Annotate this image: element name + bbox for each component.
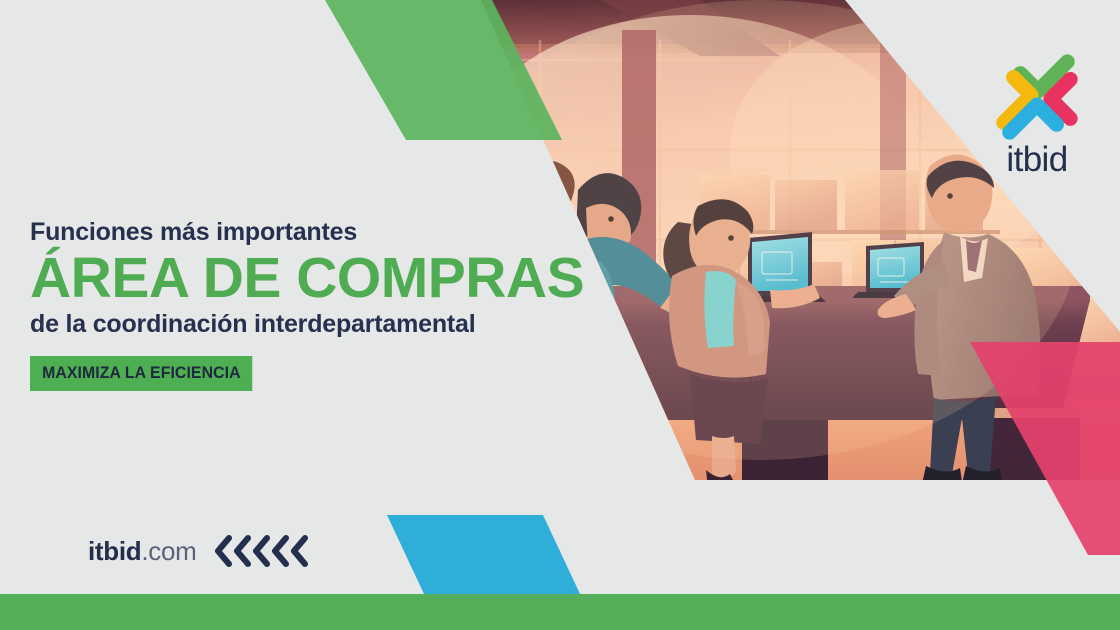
subtitle-text: de la coordinación interdepartamental: [30, 311, 590, 339]
url-tld: .com: [141, 536, 196, 567]
status-badge: MAXIMIZA LA EFICIENCIA: [30, 356, 253, 391]
headline-block: Funciones más importantes ÁREA DE COMPRA…: [30, 219, 590, 391]
footer-url[interactable]: itbid .com: [88, 534, 310, 568]
eyebrow-text: Funciones más importantes: [30, 219, 590, 247]
page-title: ÁREA DE COMPRAS: [30, 249, 590, 307]
chevron-left-icon: [288, 534, 310, 568]
logo-wordmark: itbid: [978, 142, 1096, 177]
brand-logo[interactable]: itbid: [978, 48, 1096, 177]
url-brand: itbid: [88, 536, 141, 567]
green-bottom-bar: [0, 594, 1120, 630]
marketing-banner: Funciones más importantes ÁREA DE COMPRA…: [0, 0, 1120, 630]
itbid-x-logo-icon: [988, 48, 1086, 146]
chevron-group: [215, 534, 310, 568]
